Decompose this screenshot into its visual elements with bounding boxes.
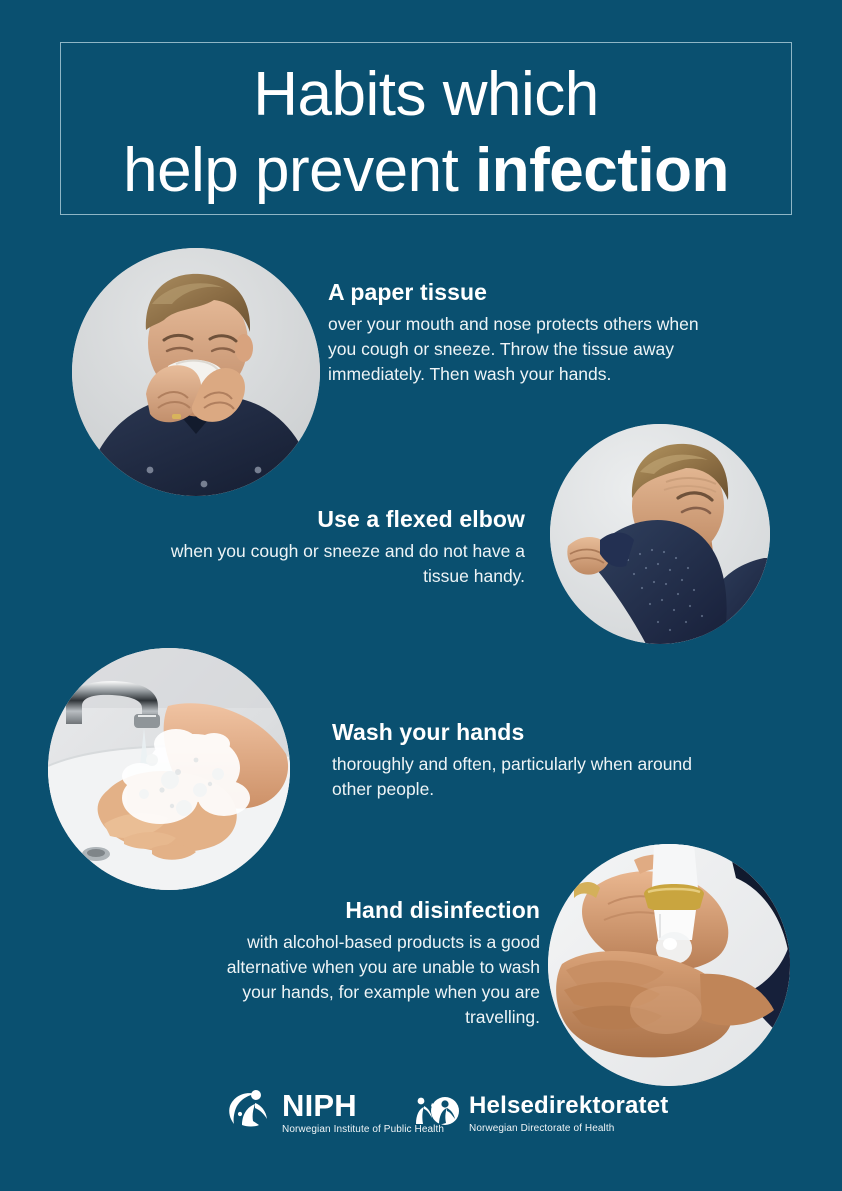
hdir-mark-svg: [415, 1091, 461, 1131]
title-line-1: Habits which: [61, 59, 791, 131]
photo-man-coughing-into-elbow: [550, 424, 770, 644]
title-line-2-bold: infection: [475, 136, 729, 205]
section-elbow-body: when you cough or sneeze and do not have…: [125, 539, 525, 589]
niph-mark-svg: [228, 1089, 274, 1129]
photo-tissue-art: [72, 248, 320, 496]
hdir-tagline: Norwegian Directorate of Health: [469, 1122, 668, 1136]
section-tissue: A paper tissue over your mouth and nose …: [328, 278, 728, 387]
logo-helsedirektoratet: Helsedirektoratet Norwegian Directorate …: [415, 1091, 668, 1136]
niph-figure-mark-icon: [228, 1089, 274, 1134]
photo-elbow-art: [550, 424, 770, 644]
photo-washing-hands-with-soap: [48, 648, 290, 890]
section-wash-heading: Wash your hands: [332, 718, 692, 746]
footer-logos: NIPH Norwegian Institute of Public Healt…: [0, 1085, 842, 1155]
section-wash: Wash your hands thoroughly and often, pa…: [332, 718, 692, 802]
section-wash-body: thoroughly and often, particularly when …: [332, 752, 692, 802]
section-elbow-heading: Use a flexed elbow: [125, 505, 525, 533]
section-sanitizer: Hand disinfection with alcohol-based pro…: [190, 896, 540, 1030]
photo-sanitizer-art: [548, 844, 790, 1086]
section-sanitizer-heading: Hand disinfection: [190, 896, 540, 924]
hdir-wordmark: Helsedirektoratet: [469, 1091, 668, 1121]
title-box: Habits which help prevent infection: [60, 42, 792, 215]
hdir-text: Helsedirektoratet Norwegian Directorate …: [469, 1091, 668, 1136]
title-line-2-light: help prevent: [123, 136, 475, 205]
logo-niph: NIPH Norwegian Institute of Public Healt…: [228, 1089, 444, 1137]
photo-wash-art: [48, 648, 290, 890]
section-elbow: Use a flexed elbow when you cough or sne…: [125, 505, 525, 589]
photo-hand-disinfection-bottle: [548, 844, 790, 1086]
section-sanitizer-body: with alcohol-based products is a good al…: [190, 930, 540, 1030]
helsedirektoratet-figures-circle-mark-icon: [415, 1091, 461, 1136]
section-tissue-heading: A paper tissue: [328, 278, 728, 306]
title-line-2: help prevent infection: [61, 135, 791, 207]
section-tissue-body: over your mouth and nose protects others…: [328, 312, 728, 387]
photo-man-sneezing-into-tissue: [72, 248, 320, 496]
infection-prevention-poster: Habits which help prevent infection: [0, 0, 842, 1191]
